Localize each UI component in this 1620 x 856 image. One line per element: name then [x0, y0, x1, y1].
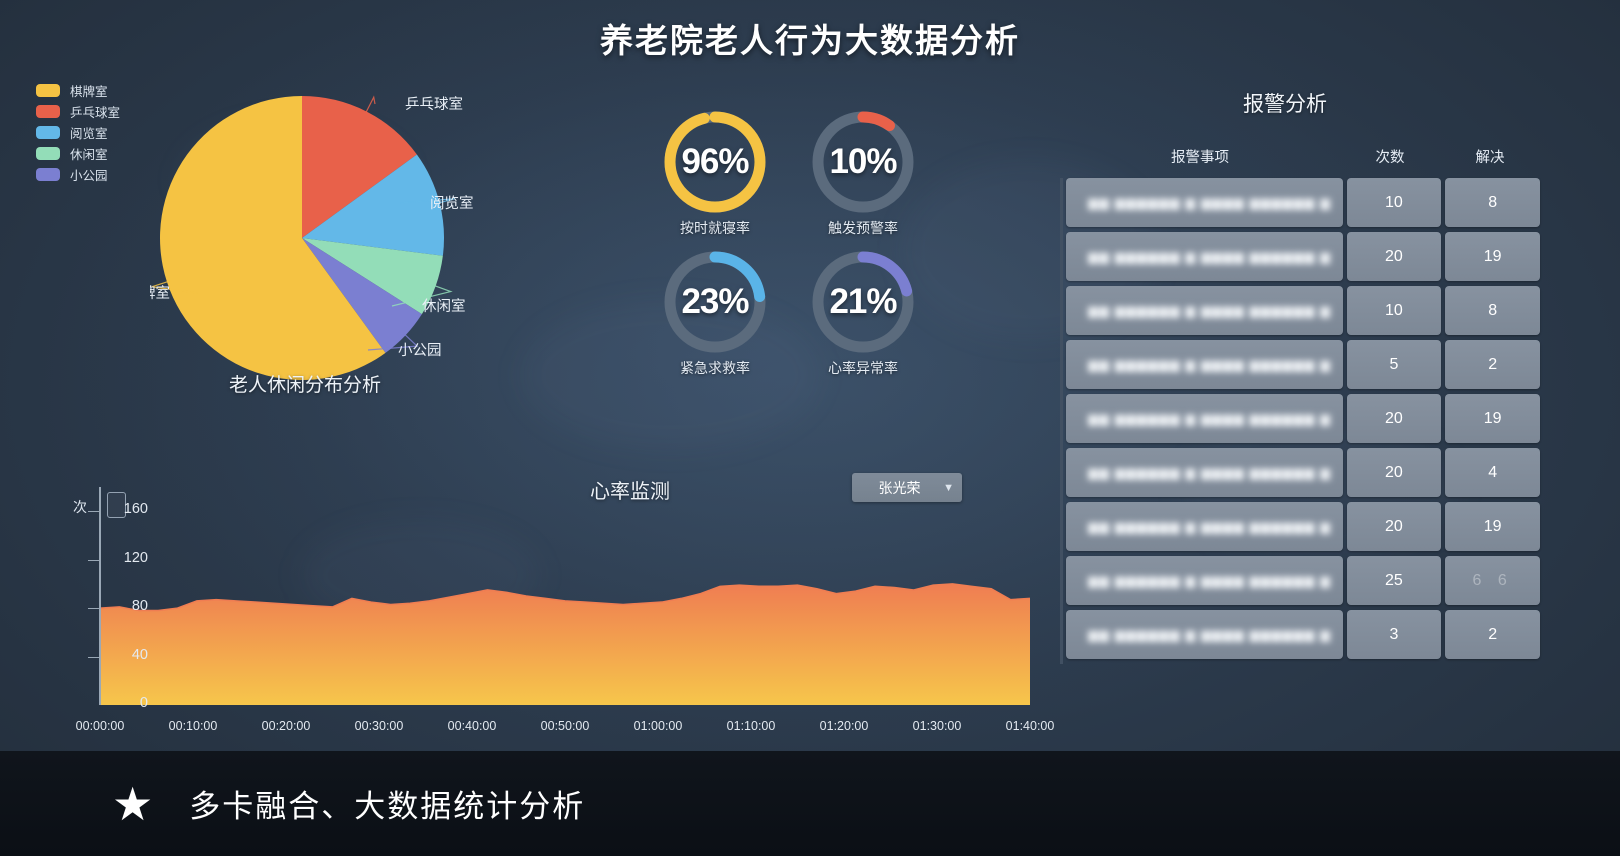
- pie-chart: 乒乓球室阅览室休闲室小公园棋牌室: [150, 78, 550, 418]
- gauge-value: 23%: [640, 248, 790, 356]
- legend-swatch-icon: [36, 168, 60, 181]
- alarm-count-cell[interactable]: 10: [1347, 286, 1442, 335]
- x-axis-tick: 00:00:00: [76, 719, 125, 733]
- alarm-resolved-cell[interactable]: 8: [1445, 286, 1540, 335]
- alarm-resolved-text: 6 6: [1473, 572, 1513, 590]
- alarm-table-body: ▆▆ ▆▆▆▆▆▆ ▆ ▆▆▆▆ ▆▆▆▆▆▆ ▆108▆▆ ▆▆▆▆▆▆ ▆ …: [1060, 178, 1540, 664]
- gauge-caption: 心率异常率: [788, 358, 938, 378]
- legend-swatch-icon: [36, 147, 60, 160]
- alarm-resolved-cell[interactable]: 2: [1445, 340, 1540, 389]
- gauge-3: 21%心率异常率: [788, 248, 938, 393]
- alarm-count-cell[interactable]: 10: [1347, 178, 1442, 227]
- x-axis-tick: 00:50:00: [541, 719, 590, 733]
- table-row[interactable]: ▆▆ ▆▆▆▆▆▆ ▆ ▆▆▆▆ ▆▆▆▆▆▆ ▆2019: [1066, 502, 1540, 551]
- table-row[interactable]: ▆▆ ▆▆▆▆▆▆ ▆ ▆▆▆▆ ▆▆▆▆▆▆ ▆108: [1066, 286, 1540, 335]
- alarm-resolved-text: 2: [1488, 626, 1497, 644]
- pie-chart-svg: 乒乓球室阅览室休闲室小公园棋牌室: [150, 78, 550, 418]
- alarm-item-text: ▆▆ ▆▆▆▆▆▆ ▆ ▆▆▆▆ ▆▆▆▆▆▆ ▆: [1088, 465, 1331, 481]
- y-axis-tick-mark: [88, 511, 100, 512]
- legend-swatch-icon: [36, 84, 60, 97]
- heart-rate-area: [100, 584, 1030, 705]
- star-icon: ★: [112, 781, 153, 827]
- alarm-column-header: 解决: [1440, 146, 1540, 167]
- pie-slice-label: 棋牌室: [150, 285, 170, 302]
- alarm-column-header: 报警事项: [1060, 146, 1340, 167]
- gauge-grid: 96%按时就寝率10%触发预警率23%紧急求救率21%心率异常率: [640, 108, 940, 398]
- gauge-0: 96%按时就寝率: [640, 108, 790, 253]
- alarm-resolved-text: 19: [1484, 248, 1502, 266]
- x-axis-tick: 01:20:00: [820, 719, 869, 733]
- gauge-caption: 触发预警率: [788, 218, 938, 238]
- alarm-item-cell[interactable]: ▆▆ ▆▆▆▆▆▆ ▆ ▆▆▆▆ ▆▆▆▆▆▆ ▆: [1066, 340, 1343, 389]
- alarm-resolved-text: 19: [1484, 410, 1502, 428]
- alarm-item-text: ▆▆ ▆▆▆▆▆▆ ▆ ▆▆▆▆ ▆▆▆▆▆▆ ▆: [1088, 195, 1331, 211]
- alarm-item-cell[interactable]: ▆▆ ▆▆▆▆▆▆ ▆ ▆▆▆▆ ▆▆▆▆▆▆ ▆: [1066, 502, 1343, 551]
- heart-rate-panel: 心率监测 张光荣 ▼ 次 0408012016000:00:0000:10:00…: [60, 465, 1050, 755]
- x-axis-tick: 01:40:00: [1006, 719, 1055, 733]
- alarm-item-text: ▆▆ ▆▆▆▆▆▆ ▆ ▆▆▆▆ ▆▆▆▆▆▆ ▆: [1088, 573, 1331, 589]
- heart-rate-area-svg: [100, 487, 1030, 705]
- legend-item-label: 休闲室: [70, 144, 108, 163]
- table-row[interactable]: ▆▆ ▆▆▆▆▆▆ ▆ ▆▆▆▆ ▆▆▆▆▆▆ ▆204: [1066, 448, 1540, 497]
- y-axis-tick-mark: [88, 657, 100, 658]
- y-axis-tick: 80: [88, 598, 148, 614]
- pie-legend: 棋牌室乒乓球室阅览室休闲室小公园: [36, 80, 120, 185]
- table-row[interactable]: ▆▆ ▆▆▆▆▆▆ ▆ ▆▆▆▆ ▆▆▆▆▆▆ ▆52: [1066, 340, 1540, 389]
- table-row[interactable]: ▆▆ ▆▆▆▆▆▆ ▆ ▆▆▆▆ ▆▆▆▆▆▆ ▆256 6: [1066, 556, 1540, 605]
- x-axis-tick: 00:10:00: [169, 719, 218, 733]
- alarm-resolved-text: 8: [1488, 194, 1497, 212]
- alarm-item-cell[interactable]: ▆▆ ▆▆▆▆▆▆ ▆ ▆▆▆▆ ▆▆▆▆▆▆ ▆: [1066, 286, 1343, 335]
- legend-item-label: 小公园: [70, 165, 108, 184]
- alarm-panel: 报警分析 报警事项次数解决 ▆▆ ▆▆▆▆▆▆ ▆ ▆▆▆▆ ▆▆▆▆▆▆ ▆1…: [1060, 88, 1590, 688]
- legend-item[interactable]: 乒乓球室: [36, 101, 120, 121]
- gauge-value: 21%: [788, 248, 938, 356]
- x-axis-tick: 01:00:00: [634, 719, 683, 733]
- alarm-item-cell[interactable]: ▆▆ ▆▆▆▆▆▆ ▆ ▆▆▆▆ ▆▆▆▆▆▆ ▆: [1066, 232, 1343, 281]
- gauge-value: 10%: [788, 108, 938, 216]
- pie-leader-line: [365, 97, 375, 115]
- x-axis-tick: 00:40:00: [448, 719, 497, 733]
- alarm-count-cell[interactable]: 20: [1347, 448, 1442, 497]
- legend-item[interactable]: 小公园: [36, 164, 120, 184]
- table-row[interactable]: ▆▆ ▆▆▆▆▆▆ ▆ ▆▆▆▆ ▆▆▆▆▆▆ ▆108: [1066, 178, 1540, 227]
- alarm-resolved-text: 19: [1484, 518, 1502, 536]
- y-axis-tick: 160: [88, 501, 148, 517]
- legend-swatch-icon: [36, 126, 60, 139]
- gauge-value: 96%: [640, 108, 790, 216]
- pie-slice-label: 休闲室: [422, 298, 466, 315]
- alarm-resolved-cell[interactable]: 2: [1445, 610, 1540, 659]
- x-axis-tick: 01:30:00: [913, 719, 962, 733]
- heart-rate-plot: [100, 487, 1030, 705]
- alarm-item-cell[interactable]: ▆▆ ▆▆▆▆▆▆ ▆ ▆▆▆▆ ▆▆▆▆▆▆ ▆: [1066, 394, 1343, 443]
- alarm-count-cell[interactable]: 25: [1347, 556, 1442, 605]
- alarm-resolved-text: 2: [1488, 356, 1497, 374]
- alarm-item-text: ▆▆ ▆▆▆▆▆▆ ▆ ▆▆▆▆ ▆▆▆▆▆▆ ▆: [1088, 303, 1331, 319]
- legend-item[interactable]: 阅览室: [36, 122, 120, 142]
- alarm-resolved-text: 8: [1488, 302, 1497, 320]
- alarm-panel-title: 报警分析: [1060, 88, 1510, 118]
- alarm-resolved-cell[interactable]: 8: [1445, 178, 1540, 227]
- y-axis-tick: 40: [88, 647, 148, 663]
- y-axis-tick: 120: [88, 550, 148, 566]
- dashboard-root: 养老院老人行为大数据分析 棋牌室乒乓球室阅览室休闲室小公园 乒乓球室阅览室休闲室…: [0, 0, 1620, 856]
- alarm-column-header: 次数: [1340, 146, 1440, 167]
- heart-rate-unit-label: 次: [73, 497, 87, 517]
- alarm-item-cell[interactable]: ▆▆ ▆▆▆▆▆▆ ▆ ▆▆▆▆ ▆▆▆▆▆▆ ▆: [1066, 556, 1343, 605]
- y-axis-tick: 0: [88, 695, 148, 711]
- y-axis-line: [99, 487, 101, 705]
- legend-item-label: 阅览室: [70, 123, 108, 142]
- alarm-item-text: ▆▆ ▆▆▆▆▆▆ ▆ ▆▆▆▆ ▆▆▆▆▆▆ ▆: [1088, 411, 1331, 427]
- gauge-caption: 紧急求救率: [640, 358, 790, 378]
- pie-slice-label: 阅览室: [430, 195, 474, 212]
- alarm-count-cell[interactable]: 3: [1347, 610, 1442, 659]
- alarm-item-cell[interactable]: ▆▆ ▆▆▆▆▆▆ ▆ ▆▆▆▆ ▆▆▆▆▆▆ ▆: [1066, 448, 1343, 497]
- alarm-count-cell[interactable]: 5: [1347, 340, 1442, 389]
- alarm-count-cell[interactable]: 20: [1347, 232, 1442, 281]
- gauge-caption: 按时就寝率: [640, 218, 790, 238]
- gauge-2: 23%紧急求救率: [640, 248, 790, 393]
- legend-item-label: 棋牌室: [70, 81, 108, 100]
- legend-item[interactable]: 休闲室: [36, 143, 120, 163]
- x-axis-tick: 01:10:00: [727, 719, 776, 733]
- alarm-resolved-cell[interactable]: 19: [1445, 394, 1540, 443]
- legend-swatch-icon: [36, 105, 60, 118]
- table-row[interactable]: ▆▆ ▆▆▆▆▆▆ ▆ ▆▆▆▆ ▆▆▆▆▆▆ ▆2019: [1066, 394, 1540, 443]
- alarm-count-cell[interactable]: 20: [1347, 394, 1442, 443]
- page-title: 养老院老人行为大数据分析: [0, 14, 1620, 62]
- alarm-resolved-text: 4: [1488, 464, 1497, 482]
- footer-bar: ★ 多卡融合、大数据统计分析: [0, 751, 1620, 856]
- alarm-item-text: ▆▆ ▆▆▆▆▆▆ ▆ ▆▆▆▆ ▆▆▆▆▆▆ ▆: [1088, 249, 1331, 265]
- footer-text: 多卡融合、大数据统计分析: [189, 781, 585, 826]
- alarm-item-cell[interactable]: ▆▆ ▆▆▆▆▆▆ ▆ ▆▆▆▆ ▆▆▆▆▆▆ ▆: [1066, 610, 1343, 659]
- legend-item[interactable]: 棋牌室: [36, 80, 120, 100]
- alarm-item-cell[interactable]: ▆▆ ▆▆▆▆▆▆ ▆ ▆▆▆▆ ▆▆▆▆▆▆ ▆: [1066, 178, 1343, 227]
- alarm-count-cell[interactable]: 20: [1347, 502, 1442, 551]
- alarm-resolved-cell[interactable]: 4: [1445, 448, 1540, 497]
- alarm-item-text: ▆▆ ▆▆▆▆▆▆ ▆ ▆▆▆▆ ▆▆▆▆▆▆ ▆: [1088, 627, 1331, 643]
- legend-item-label: 乒乓球室: [70, 102, 120, 121]
- table-row[interactable]: ▆▆ ▆▆▆▆▆▆ ▆ ▆▆▆▆ ▆▆▆▆▆▆ ▆32: [1066, 610, 1540, 659]
- alarm-resolved-cell[interactable]: 19: [1445, 232, 1540, 281]
- alarm-resolved-cell[interactable]: 19: [1445, 502, 1540, 551]
- alarm-item-text: ▆▆ ▆▆▆▆▆▆ ▆ ▆▆▆▆ ▆▆▆▆▆▆ ▆: [1088, 519, 1331, 535]
- pie-chart-caption: 老人休闲分布分析: [130, 370, 480, 397]
- gauge-1: 10%触发预警率: [788, 108, 938, 253]
- x-axis-tick: 00:20:00: [262, 719, 311, 733]
- table-row[interactable]: ▆▆ ▆▆▆▆▆▆ ▆ ▆▆▆▆ ▆▆▆▆▆▆ ▆2019: [1066, 232, 1540, 281]
- pie-slice-label: 小公园: [398, 342, 442, 359]
- alarm-item-text: ▆▆ ▆▆▆▆▆▆ ▆ ▆▆▆▆ ▆▆▆▆▆▆ ▆: [1088, 357, 1331, 373]
- y-axis-tick-mark: [88, 560, 100, 561]
- x-axis-tick: 00:30:00: [355, 719, 404, 733]
- alarm-table-header: 报警事项次数解决: [1060, 146, 1540, 167]
- alarm-resolved-cell[interactable]: 6 6: [1445, 556, 1540, 605]
- y-axis-tick-mark: [88, 608, 100, 609]
- pie-slice-label: 乒乓球室: [405, 96, 463, 113]
